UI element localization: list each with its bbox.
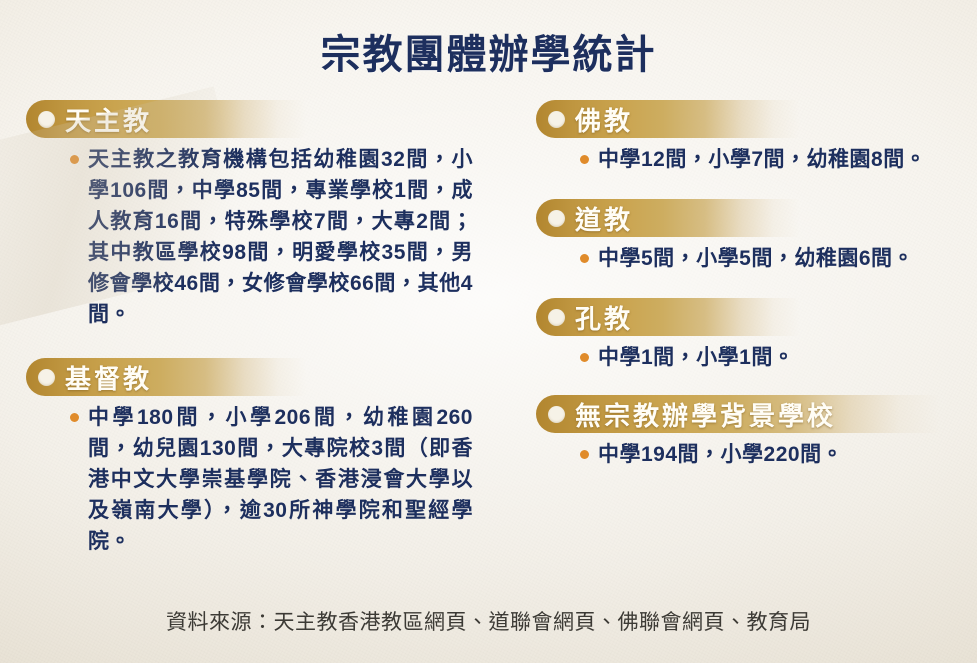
source-note: 資料來源：天主教香港教區網頁、道聯會網頁、佛聯會網頁、教育局 bbox=[0, 606, 977, 636]
section-header-taoism: 道教 bbox=[536, 199, 800, 237]
section-header-protestant: 基督教 bbox=[26, 358, 306, 396]
page-title: 宗教團體辦學統計 bbox=[0, 22, 977, 80]
section-header-label: 基督教 bbox=[65, 359, 152, 396]
section-body-text: 中學12間，小學7間，幼稚園8間。 bbox=[598, 144, 928, 175]
orange-bullet-icon bbox=[70, 413, 79, 422]
section-body-text: 中學180間，小學206間，幼稚園260間，幼兒園130間，大專院校3間（即香港… bbox=[88, 402, 473, 557]
section-body-catholic: 天主教之教育機構包括幼稚園32間，小學106間，中學85間，專業學校1間，成人教… bbox=[26, 144, 496, 330]
orange-bullet-icon bbox=[580, 155, 589, 164]
section-header-label: 無宗教辦學背景學校 bbox=[575, 396, 836, 433]
left-column: 天主教 天主教之教育機構包括幼稚園32間，小學106間，中學85間，專業學校1間… bbox=[26, 100, 496, 579]
section-buddhism: 佛教 中學12間，小學7間，幼稚園8間。 bbox=[536, 100, 956, 175]
section-header-label: 道教 bbox=[575, 200, 633, 237]
section-header-label: 佛教 bbox=[575, 101, 633, 138]
orange-bullet-icon bbox=[580, 254, 589, 263]
section-body-confucianism: 中學1間，小學1間。 bbox=[536, 342, 956, 373]
section-header-no-religion: 無宗教辦學背景學校 bbox=[536, 395, 940, 433]
section-body-text: 天主教之教育機構包括幼稚園32間，小學106間，中學85間，專業學校1間，成人教… bbox=[88, 144, 473, 330]
circle-bullet-icon bbox=[548, 406, 565, 423]
right-column: 佛教 中學12間，小學7間，幼稚園8間。 道教 中學5間，小學5間，幼稚園6間。… bbox=[536, 100, 956, 494]
section-body-buddhism: 中學12間，小學7間，幼稚園8間。 bbox=[536, 144, 956, 175]
section-header-label: 孔教 bbox=[575, 299, 633, 336]
infographic-page: 宗教團體辦學統計 天主教 天主教之教育機構包括幼稚園32間，小學106間，中學8… bbox=[0, 0, 977, 663]
circle-bullet-icon bbox=[38, 369, 55, 386]
section-header-buddhism: 佛教 bbox=[536, 100, 800, 138]
circle-bullet-icon bbox=[548, 309, 565, 326]
section-body-no-religion: 中學194間，小學220間。 bbox=[536, 439, 956, 470]
orange-bullet-icon bbox=[70, 155, 79, 164]
section-body-taoism: 中學5間，小學5間，幼稚園6間。 bbox=[536, 243, 956, 274]
section-catholic: 天主教 天主教之教育機構包括幼稚園32間，小學106間，中學85間，專業學校1間… bbox=[26, 100, 496, 330]
circle-bullet-icon bbox=[548, 210, 565, 227]
section-header-catholic: 天主教 bbox=[26, 100, 306, 138]
section-body-text: 中學5間，小學5間，幼稚園6間。 bbox=[598, 243, 928, 274]
orange-bullet-icon bbox=[580, 353, 589, 362]
section-taoism: 道教 中學5間，小學5間，幼稚園6間。 bbox=[536, 199, 956, 274]
section-confucianism: 孔教 中學1間，小學1間。 bbox=[536, 298, 956, 373]
circle-bullet-icon bbox=[38, 111, 55, 128]
section-header-label: 天主教 bbox=[65, 101, 152, 138]
section-header-confucianism: 孔教 bbox=[536, 298, 800, 336]
section-body-text: 中學194間，小學220間。 bbox=[598, 439, 928, 470]
circle-bullet-icon bbox=[548, 111, 565, 128]
section-protestant: 基督教 中學180間，小學206間，幼稚園260間，幼兒園130間，大專院校3間… bbox=[26, 358, 496, 557]
section-no-religion: 無宗教辦學背景學校 中學194間，小學220間。 bbox=[536, 395, 956, 470]
section-body-text: 中學1間，小學1間。 bbox=[598, 342, 928, 373]
section-body-protestant: 中學180間，小學206間，幼稚園260間，幼兒園130間，大專院校3間（即香港… bbox=[26, 402, 496, 557]
orange-bullet-icon bbox=[580, 450, 589, 459]
